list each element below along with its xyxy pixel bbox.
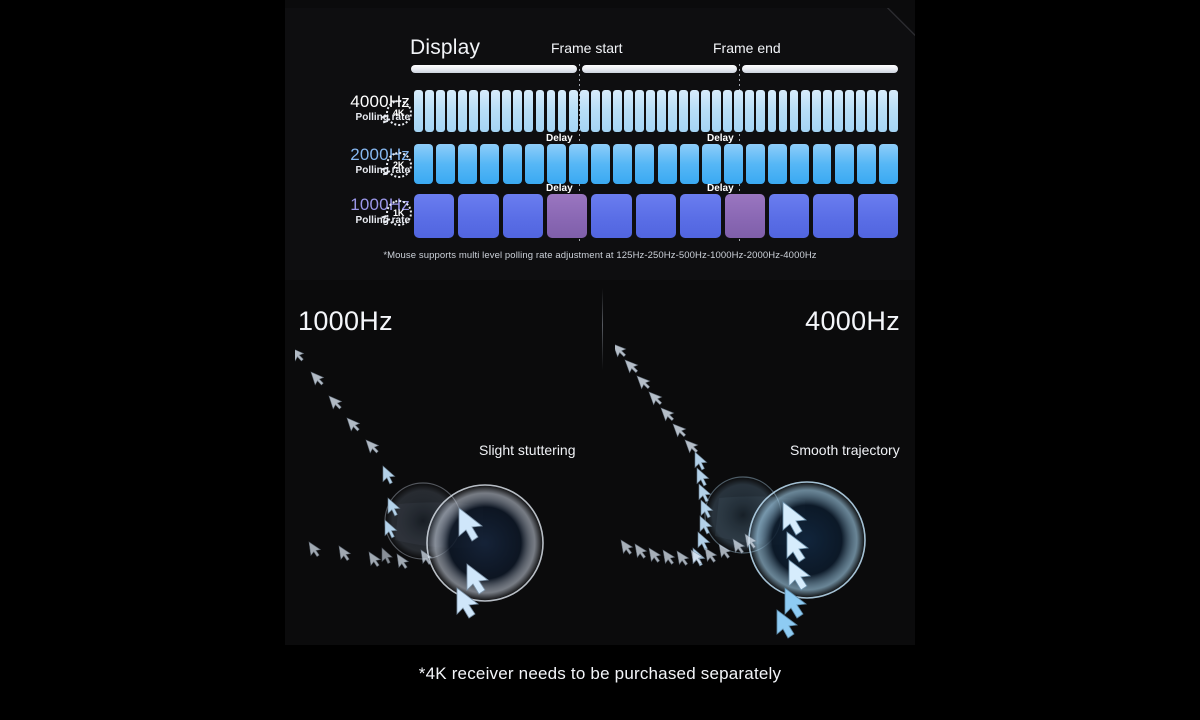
caption-slight-stuttering: Slight stuttering (479, 442, 576, 458)
comparison-title-left: 1000Hz (298, 306, 393, 337)
comparison-title-right: 4000Hz (805, 306, 900, 337)
pulse-bar (857, 144, 876, 184)
pulse-bar (635, 90, 644, 132)
pulse-train-4000hz (414, 90, 898, 132)
pulse-bar (646, 90, 655, 132)
pulse-bar (746, 144, 765, 184)
pulse-bar (845, 90, 854, 132)
diagram-footnote: *Mouse supports multi level polling rate… (285, 250, 915, 261)
pulse-bar (613, 90, 622, 132)
pulse-train-1000hz (414, 194, 898, 238)
pulse-bar (547, 194, 587, 238)
pulse-bar (756, 90, 765, 132)
pulse-bar (491, 90, 500, 132)
display-timebar-segment-2 (582, 65, 737, 73)
pulse-bar (524, 90, 533, 132)
delay-label-1000hz-start: Delay (546, 183, 573, 194)
pulse-bar (878, 90, 887, 132)
pulse-bar (580, 90, 589, 132)
pulse-bar (745, 90, 754, 132)
pulse-bar (602, 90, 611, 132)
pulse-bar (513, 90, 522, 132)
pulse-bar (636, 194, 676, 238)
pulse-bar (635, 144, 654, 184)
pulse-bar (701, 90, 710, 132)
pulse-bar (801, 90, 810, 132)
pulse-bar (569, 144, 588, 184)
pulse-bar (425, 90, 434, 132)
cursor-trail-scene-4000hz (615, 340, 925, 640)
pulse-bar (779, 90, 788, 132)
pulse-bar (458, 90, 467, 132)
pulse-bar (503, 194, 543, 238)
pulse-bar (835, 144, 854, 184)
pulse-bar (867, 90, 876, 132)
pulse-bar (558, 90, 567, 132)
pulse-bar (657, 90, 666, 132)
display-timebar-segment-3 (742, 65, 898, 73)
caption-smooth-trajectory: Smooth trajectory (790, 442, 900, 458)
pulse-bar (725, 194, 765, 238)
pulse-bar (823, 90, 832, 132)
pulse-bar (469, 90, 478, 132)
pulse-bar (547, 90, 556, 132)
pulse-bar (436, 144, 455, 184)
pulse-bar (812, 90, 821, 132)
pulse-bar (414, 144, 433, 184)
letterbox-left (0, 0, 200, 720)
pulse-bar (734, 90, 743, 132)
delay-label-2000hz-end: Delay (707, 133, 734, 144)
letterbox-right (1000, 0, 1200, 720)
pulse-bar (879, 144, 898, 184)
pulse-bar (712, 90, 721, 132)
screenshot-root: Display Frame start Frame end 4000Hz Pol… (0, 0, 1200, 720)
pulse-bar (680, 194, 720, 238)
pulse-bar (414, 194, 454, 238)
pulse-bar (724, 144, 743, 184)
frame-start-label: Frame start (551, 40, 623, 56)
pulse-bar (680, 144, 699, 184)
pulse-bar (414, 90, 423, 132)
pulse-bar (668, 90, 677, 132)
pulse-bar (889, 90, 898, 132)
pulse-bar (858, 194, 898, 238)
gauge-1k-label: 1K (393, 208, 404, 218)
pulse-bar (458, 144, 477, 184)
pulse-bar (591, 90, 600, 132)
frame-end-label: Frame end (713, 40, 781, 56)
pulse-bar (723, 90, 732, 132)
pulse-bar (834, 90, 843, 132)
gauge-4k-label: 4K (393, 108, 404, 118)
pulse-bar (624, 90, 633, 132)
pulse-bar (502, 90, 511, 132)
pulse-bar (458, 194, 498, 238)
pulse-bar (769, 194, 809, 238)
pulse-bar (591, 194, 631, 238)
delay-label-1000hz-end: Delay (707, 183, 734, 194)
pulse-bar (790, 90, 799, 132)
pulse-bar (813, 144, 832, 184)
pulse-train-2000hz (414, 144, 898, 184)
pulse-bar (768, 144, 787, 184)
pulse-bar (447, 90, 456, 132)
delay-label-2000hz-start: Delay (546, 133, 573, 144)
pulse-bar (613, 144, 632, 184)
display-label: Display (410, 36, 480, 60)
pulse-bar (702, 144, 721, 184)
pulse-bar (679, 90, 688, 132)
cursor-trail-scene-1000hz (295, 340, 605, 640)
pulse-bar (690, 90, 699, 132)
display-timebar-segment-1 (411, 65, 577, 73)
pulse-bar (480, 90, 489, 132)
pulse-bar (813, 194, 853, 238)
pulse-bar (436, 90, 445, 132)
pulse-bar (591, 144, 610, 184)
pulse-bar (525, 144, 544, 184)
pulse-bar (536, 90, 545, 132)
gauge-2k-label: 2K (393, 160, 404, 170)
pulse-bar (790, 144, 809, 184)
pulse-bar (856, 90, 865, 132)
pulse-bar (569, 90, 578, 132)
pulse-bar (503, 144, 522, 184)
pulse-bar (658, 144, 677, 184)
pulse-bar (768, 90, 777, 132)
pulse-bar (547, 144, 566, 184)
pulse-bar (480, 144, 499, 184)
